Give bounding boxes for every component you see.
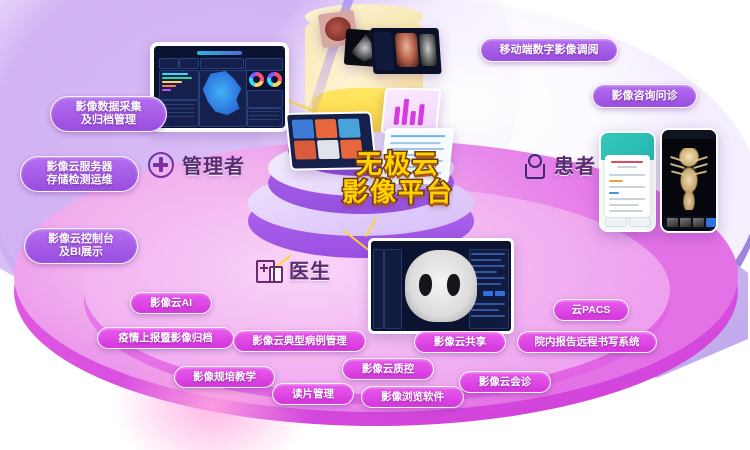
list-row-line (249, 119, 279, 120)
kpi-card (200, 58, 244, 69)
ct-info-row (471, 259, 501, 261)
infographic-canvas: 管理者 患者 医生 无极云 影像平台 影像数据采集 及归档管理 影像云服务器 存… (0, 0, 750, 450)
table-line (390, 142, 440, 144)
phone-thumbnail[interactable] (693, 218, 704, 227)
rib (670, 156, 684, 162)
device-ct-viewer[interactable] (368, 238, 514, 334)
rib (670, 163, 685, 169)
platform-title-line1: 无极云 (318, 150, 478, 178)
ct-action-button[interactable] (483, 291, 493, 296)
ct-lung-right (447, 274, 460, 296)
phone-thumbnail-active[interactable] (706, 218, 717, 227)
role-admin[interactable]: 管理者 (148, 150, 245, 179)
pill-doctor-qc[interactable]: 影像云质控 (342, 358, 434, 380)
dashboard-bar (162, 81, 182, 83)
phone-thumbnail-strip[interactable] (664, 216, 714, 229)
list-row-line (249, 115, 279, 116)
phone-card-line (609, 204, 639, 206)
table-row-line (162, 104, 194, 105)
phone-card-sub (617, 166, 637, 168)
rib (693, 170, 707, 175)
dashboard-bar (162, 73, 188, 75)
table-row-line (162, 108, 194, 109)
ct-chest-slice (405, 250, 478, 322)
mri-thumbnail-rail (374, 32, 395, 70)
dashboard-bar (162, 85, 176, 87)
donut-chart (267, 72, 282, 87)
phone-button-right[interactable] (629, 217, 651, 227)
ct-info-row (471, 309, 499, 311)
console-tile (315, 119, 338, 138)
phone-card-tag (609, 180, 623, 182)
pill-admin-3[interactable]: 影像云控制台 及BI展示 (24, 228, 138, 264)
phone-button-left[interactable] (605, 217, 627, 227)
chart-bar (393, 107, 400, 125)
dashboard-bar (162, 77, 192, 79)
phone-card-title (611, 161, 643, 163)
rib (693, 163, 708, 169)
pill-patient-1[interactable]: 移动端数字影像调阅 (480, 38, 618, 62)
role-patient-label: 患者 (554, 150, 596, 179)
platform-title-line2: 影像平台 (318, 178, 478, 206)
pill-doctor-ai[interactable]: 影像云AI (130, 292, 212, 314)
kpi-card (159, 58, 179, 69)
3d-spine-render (675, 148, 703, 210)
pill-patient-2[interactable]: 影像咨询问诊 (592, 84, 697, 108)
table-header-line (391, 135, 446, 137)
dashboard-bar (162, 89, 171, 91)
pill-doctor-pacs[interactable]: 云PACS (553, 299, 629, 321)
phone-card-line (609, 198, 645, 200)
phone-thumbnail[interactable] (680, 218, 691, 227)
dashboard-body (157, 49, 282, 125)
rib (694, 156, 708, 162)
ct-info-row (471, 265, 505, 267)
pill-admin-1[interactable]: 影像数据采集 及归档管理 (50, 96, 167, 132)
phone-card-line (609, 186, 645, 188)
pill-doctor-epidemic[interactable]: 疫情上报暨影像归档 (97, 327, 234, 349)
kpi-card (245, 58, 283, 71)
chart-bar (402, 99, 410, 125)
medical-record-plus-icon (255, 257, 281, 283)
phone-report-card (605, 155, 650, 217)
circle-plus-icon (148, 152, 174, 178)
dashboard-header-bar (197, 51, 242, 55)
list-row-line (249, 111, 279, 112)
phone-thumbnail[interactable] (667, 218, 678, 227)
ct-info-row (471, 315, 505, 317)
platform-title: 无极云 影像平台 (318, 150, 478, 206)
ct-series-rail (384, 249, 402, 329)
pill-doctor-cases[interactable]: 影像云典型病例管理 (233, 330, 366, 352)
device-phone-3d[interactable] (660, 128, 718, 233)
ct-action-button[interactable] (495, 291, 505, 296)
console-tile (292, 119, 315, 138)
chart-bar (418, 104, 425, 125)
pill-doctor-training[interactable]: 影像规培教学 (174, 366, 275, 388)
rib (671, 170, 685, 175)
role-admin-label: 管理者 (182, 150, 245, 179)
pill-doctor-report-system[interactable]: 院内报告远程书写系统 (517, 331, 657, 353)
console-tile (294, 140, 317, 159)
pill-doctor-share[interactable]: 影像云共享 (414, 331, 506, 353)
console-tile (338, 119, 361, 138)
pill-doctor-reading[interactable]: 读片管理 (272, 383, 354, 405)
phone-card-line (609, 174, 645, 176)
device-mri-viewer[interactable] (370, 28, 441, 74)
phone-toolbar (662, 130, 716, 139)
chart-bar (410, 111, 416, 125)
person-icon (520, 152, 546, 178)
donut-chart (249, 72, 264, 87)
pill-admin-2[interactable]: 影像云服务器 存储检测运维 (20, 156, 139, 192)
mri-image-b (419, 34, 437, 66)
mri-image-a (395, 33, 419, 67)
device-phone-consult[interactable] (599, 131, 656, 232)
role-patient[interactable]: 患者 (520, 150, 596, 179)
phone-card-line (609, 210, 643, 212)
ct-info-row (471, 303, 505, 305)
ct-lung-left (419, 274, 432, 296)
phone-card-tag (609, 192, 619, 194)
ct-info-row (471, 253, 505, 255)
pill-doctor-consult[interactable]: 影像云会诊 (459, 371, 551, 393)
trend-panel (247, 90, 283, 108)
role-doctor[interactable]: 医生 (255, 255, 331, 284)
device-bi-dashboard[interactable] (150, 42, 289, 132)
kpi-card (179, 58, 199, 69)
pill-doctor-browser[interactable]: 影像浏览软件 (361, 386, 464, 408)
role-doctor-label: 医生 (289, 255, 331, 284)
ct-toolbar (373, 249, 384, 329)
